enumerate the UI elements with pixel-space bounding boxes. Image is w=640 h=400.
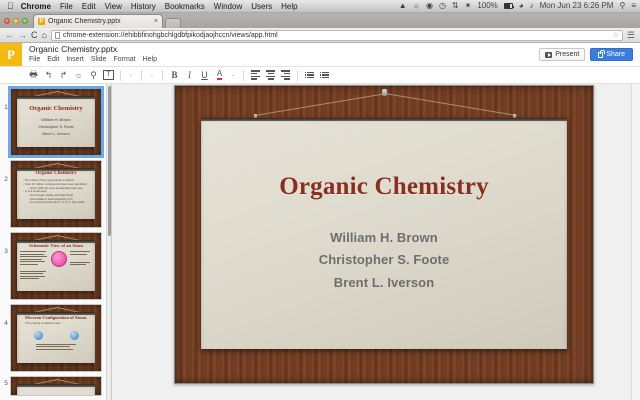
textbox-icon[interactable]: T <box>101 68 116 82</box>
toolbar-overflow-right[interactable]: · <box>146 71 158 80</box>
wall-hook <box>382 89 387 96</box>
align-right-icon[interactable] <box>278 68 293 82</box>
os-menu-edit[interactable]: Edit <box>82 2 96 11</box>
wifi-icon[interactable]: ◕ <box>519 2 524 10</box>
slide-thumbnail-item[interactable]: 5 <box>0 372 111 396</box>
app-header-center: Organic Chemistry.pptx File Edit Insert … <box>22 43 539 66</box>
bulleted-list-glyph <box>320 72 330 79</box>
slide-number: 3 <box>2 232 10 255</box>
thumb-labels <box>70 251 92 267</box>
text-color-button[interactable]: A <box>212 68 227 82</box>
align-left-glyph <box>251 70 260 79</box>
print-icon[interactable]: 🖶 <box>26 68 41 82</box>
bulleted-list-icon[interactable] <box>317 68 332 82</box>
os-menu-bar:  Chrome File Edit View History Bookmark… <box>0 0 640 13</box>
thumb-bullets: The study of the compounds of carbon Ove… <box>19 179 93 205</box>
electron-sphere-icon <box>34 331 43 340</box>
app-menu-file[interactable]: File <box>29 56 40 63</box>
app-menubar: File Edit Insert Slide Format Help <box>29 56 539 63</box>
os-menu-window[interactable]: Window <box>214 2 242 11</box>
app-header-actions: Present Share <box>539 43 640 66</box>
eye-icon[interactable]: ◉ <box>426 2 433 10</box>
thumb-author-2: Christopher S. Foote <box>17 124 95 131</box>
clock-icon[interactable]: ◷ <box>439 2 446 10</box>
dropbox-icon[interactable]: ▲ <box>399 2 407 10</box>
undo-icon[interactable]: ↰ <box>41 68 56 82</box>
align-left-icon[interactable] <box>248 68 263 82</box>
close-tab-icon[interactable]: × <box>154 18 158 25</box>
new-tab-button[interactable] <box>165 18 181 28</box>
app-brand-icon: P <box>0 43 22 66</box>
align-right-glyph <box>281 70 290 79</box>
slide-number: 5 <box>2 376 10 387</box>
presentation-app: P Organic Chemistry.pptx File Edit Inser… <box>0 43 640 400</box>
browser-tabstrip: P Organic Chemistry.pptx × <box>0 13 640 28</box>
slide-title[interactable]: Organic Chemistry <box>279 173 489 201</box>
slide-panel-scrollbar-thumb[interactable] <box>108 86 111 236</box>
os-menu-file[interactable]: File <box>60 2 73 11</box>
app-header: P Organic Chemistry.pptx File Edit Inser… <box>0 43 640 67</box>
list-icon[interactable]: ≡ <box>631 2 636 10</box>
text-color-dropdown-icon[interactable]: · <box>227 71 239 80</box>
slide-author-2[interactable]: Christopher S. Foote <box>319 249 450 271</box>
window-controls <box>4 18 28 28</box>
align-center-icon[interactable] <box>263 68 278 82</box>
home-button-icon[interactable]: ⌂ <box>42 31 47 40</box>
slide-thumbnail-1[interactable]: Organic Chemistry William H. Brown Chris… <box>10 88 102 156</box>
slide-number: 2 <box>2 160 10 183</box>
thumb-title: Organic Chemistry <box>17 105 95 112</box>
back-button-icon[interactable]: ← <box>5 31 14 40</box>
slide-canvas[interactable]: Organic Chemistry William H. Brown Chris… <box>201 118 567 349</box>
bookmark-star-icon[interactable]: ☆ <box>613 31 619 39</box>
slide-author-1[interactable]: William H. Brown <box>330 227 438 249</box>
app-menu-help[interactable]: Help <box>143 56 157 63</box>
share-button-label: Share <box>606 51 625 58</box>
slide-thumbnail-2[interactable]: Organic Chemistry The study of the compo… <box>10 160 102 228</box>
zoom-out-icon[interactable]: ☼ <box>71 68 86 82</box>
app-toolbar: 🖶 ↰ ↱ ☼ ⚲ T · · B I U A · <box>0 67 640 84</box>
bell-icon[interactable]: ☼ <box>413 2 420 10</box>
align-center-glyph <box>266 70 275 79</box>
slide-canvas <box>17 384 95 396</box>
slide-thumbnail-item[interactable]: 2 Organic Chemistry The study of the com… <box>0 156 111 228</box>
slide-thumbnail-item[interactable]: 1 Organic Chemistry William H. Brown Chr… <box>0 84 111 156</box>
app-menu-edit[interactable]: Edit <box>47 56 59 63</box>
thumb-title: Schematic View of an Atom <box>20 243 92 248</box>
document-title[interactable]: Organic Chemistry.pptx <box>29 45 539 55</box>
screen-root:  Chrome File Edit View History Bookmark… <box>0 0 640 400</box>
sync-icon[interactable]: ⇅ <box>452 2 459 10</box>
text-color-glyph: A <box>217 70 222 80</box>
app-menu-slide[interactable]: Slide <box>91 56 107 63</box>
thumb-title: Electron Configuration of Atoms <box>20 315 92 320</box>
current-slide[interactable]: Organic Chemistry William H. Brown Chris… <box>174 85 594 384</box>
numbered-list-icon[interactable] <box>302 68 317 82</box>
slide-editor-stage[interactable]: Organic Chemistry William H. Brown Chris… <box>112 84 640 400</box>
electron-sphere-icon <box>70 331 79 340</box>
tab-favicon-icon: P <box>38 18 45 25</box>
italic-button[interactable]: I <box>182 68 197 82</box>
underline-button[interactable]: U <box>197 68 212 82</box>
redo-icon[interactable]: ↱ <box>56 68 71 82</box>
os-menu-history[interactable]: History <box>131 2 156 11</box>
slide-canvas: Organic Chemistry The study of the compo… <box>17 168 95 219</box>
browser-window: P Organic Chemistry.pptx × ← → C ⌂ chrom… <box>0 13 640 400</box>
toolbar-divider <box>120 70 121 81</box>
bluetooth-icon[interactable]: ⁕ <box>465 2 472 10</box>
slide-number: 4 <box>2 304 10 327</box>
bullet: The pairing of electron spin <box>24 322 88 326</box>
slide-panel-scrollbar[interactable] <box>106 84 111 400</box>
toolbar-divider <box>162 70 163 81</box>
volume-icon[interactable]: ♪ <box>530 2 534 10</box>
zoom-window-button[interactable] <box>22 18 28 24</box>
close-window-button[interactable] <box>4 18 10 24</box>
os-menu-help[interactable]: Help <box>281 2 297 11</box>
share-button[interactable]: Share <box>590 48 633 61</box>
thumb-title: Organic Chemistry <box>19 171 93 176</box>
battery-icon[interactable] <box>504 3 513 9</box>
reload-button-icon[interactable]: C <box>31 31 38 40</box>
app-workarea: 1 Organic Chemistry William H. Brown Chr… <box>0 84 640 400</box>
thumb-caption <box>36 344 76 350</box>
minimize-window-button[interactable] <box>13 18 19 24</box>
toolbar-divider <box>243 70 244 81</box>
slide-thumbnail-5[interactable] <box>10 376 102 396</box>
battery-percent-label: 100% <box>477 2 497 10</box>
thumb-body-text <box>20 251 48 281</box>
slide-thumbnail-item[interactable]: 4 Electron Configuration of Atoms The pa… <box>0 300 111 372</box>
os-menu-chrome[interactable]: Chrome <box>21 2 51 11</box>
toolbar-divider <box>297 70 298 81</box>
url-text: chrome-extension://ehibbfinohgbchlgdbfpi… <box>63 32 278 39</box>
slide-number: 1 <box>2 88 10 111</box>
thumb-author-1: William H. Brown <box>17 117 95 124</box>
toolbar-divider <box>141 70 142 81</box>
slide-thumbnail-item[interactable]: 3 Schematic View of an Atom <box>0 228 111 300</box>
zoom-in-icon[interactable]: ⚲ <box>86 68 101 82</box>
numbered-list-glyph <box>305 72 315 79</box>
forward-button-icon[interactable]: → <box>18 31 27 40</box>
textbox-glyph: T <box>103 70 114 80</box>
slide-canvas: Organic Chemistry William H. Brown Chris… <box>17 96 95 147</box>
stage-scrollbar[interactable] <box>631 84 640 400</box>
thumb-author-3: Brent L. Iverson <box>17 131 95 138</box>
play-icon <box>545 52 552 58</box>
hamburger-menu-icon[interactable]: ☰ <box>627 31 635 40</box>
search-icon[interactable]: ⚲ <box>619 2 625 10</box>
bold-button[interactable]: B <box>167 68 182 82</box>
address-bar[interactable]: chrome-extension://ehibbfinohgbchlgdbfpi… <box>51 30 623 41</box>
thumb-diagram <box>20 251 92 281</box>
os-menu-users[interactable]: Users <box>251 2 272 11</box>
present-button-label: Present <box>555 51 579 58</box>
thumb-diagram <box>20 331 92 340</box>
slide-thumbnail-panel[interactable]: 1 Organic Chemistry William H. Brown Chr… <box>0 84 112 400</box>
slide-author-3[interactable]: Brent L. Iverson <box>334 272 435 294</box>
toolbar-overflow-left[interactable]: · <box>125 71 137 80</box>
clock-datetime[interactable]: Mon Jun 23 6:26 PM <box>540 2 614 10</box>
app-menu-insert[interactable]: Insert <box>66 56 84 63</box>
page-info-icon[interactable] <box>55 32 60 39</box>
os-menu-bookmarks[interactable]: Bookmarks <box>165 2 205 11</box>
thumb-bullets: The pairing of electron spin <box>20 322 92 326</box>
slide-thumbnail-3[interactable]: Schematic View of an Atom <box>10 232 102 300</box>
slide-canvas: Electron Configuration of Atoms The pair… <box>17 312 95 363</box>
present-button[interactable]: Present <box>539 48 585 61</box>
lock-icon <box>598 52 603 58</box>
os-menu-view[interactable]: View <box>105 2 122 11</box>
apple-logo-icon[interactable]:  <box>7 2 14 11</box>
slide-canvas: Schematic View of an Atom <box>17 240 95 291</box>
browser-omnibar: ← → C ⌂ chrome-extension://ehibbfinohgbc… <box>0 28 640 43</box>
slide-thumbnail-4[interactable]: Electron Configuration of Atoms The pair… <box>10 304 102 372</box>
tab-title: Organic Chemistry.pptx <box>48 18 151 25</box>
bullet: forms strong bonds with C, H, O, N, and … <box>23 201 89 205</box>
os-status-tray: ▲ ☼ ◉ ◷ ⇅ ⁕ 100% ◕ ♪ Mon Jun 23 6:26 PM … <box>399 2 636 10</box>
atom-nucleus-icon <box>51 251 67 267</box>
app-menu-format[interactable]: Format <box>113 56 135 63</box>
browser-tab[interactable]: P Organic Chemistry.pptx × <box>33 14 163 28</box>
hanging-wire <box>255 93 515 117</box>
